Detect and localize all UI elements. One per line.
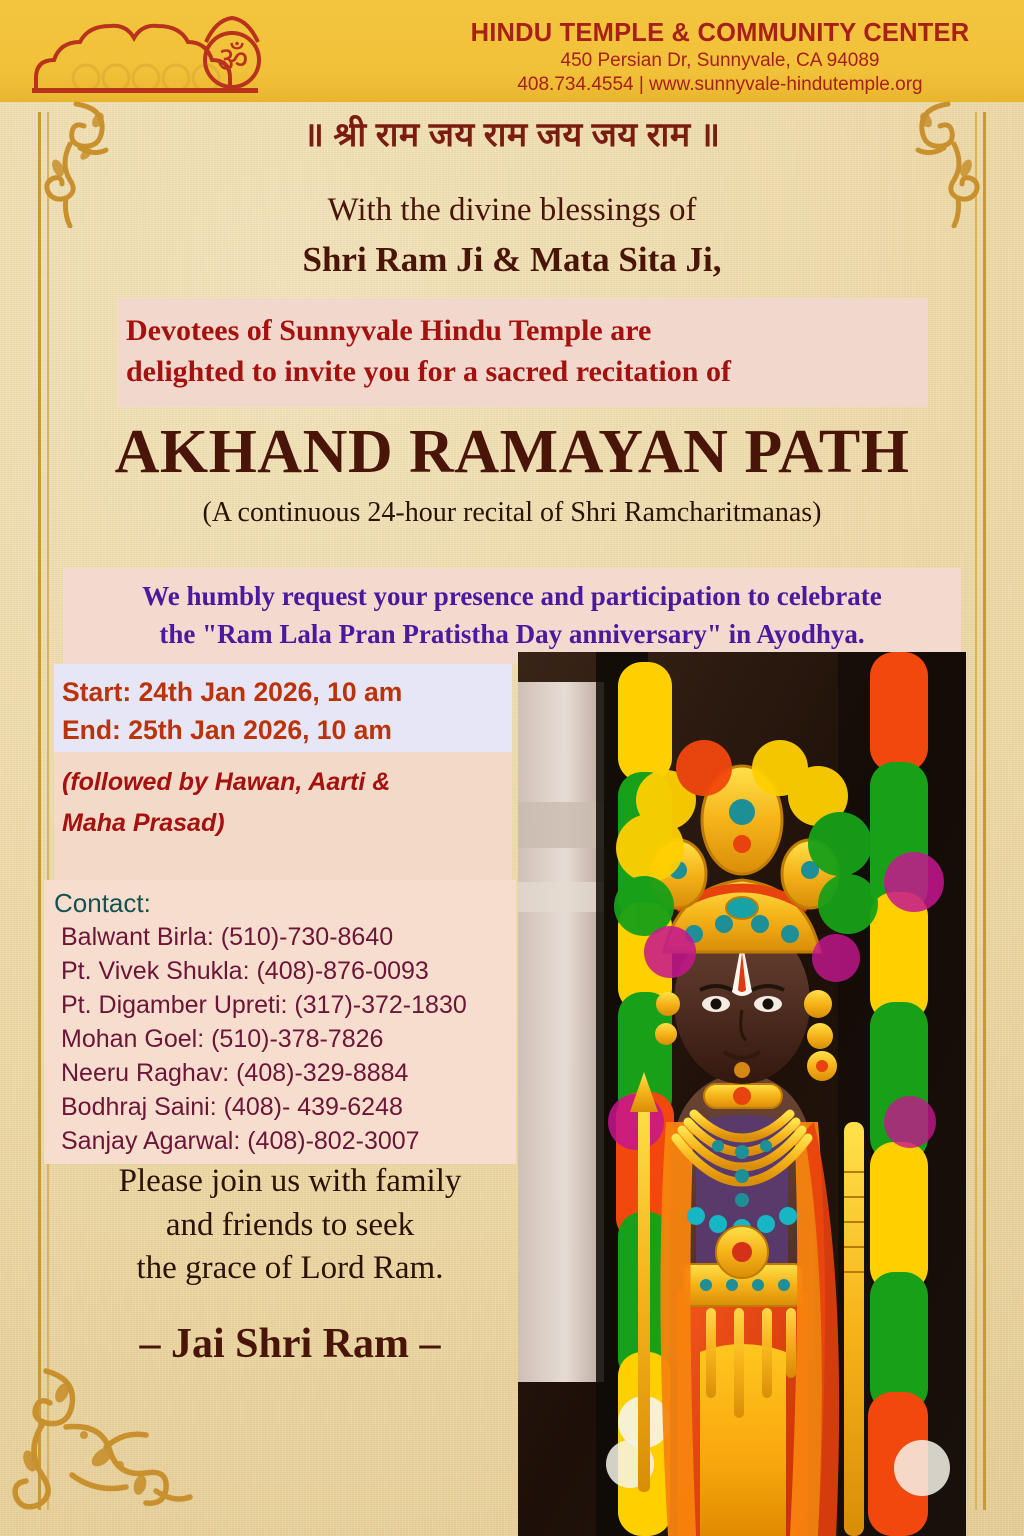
contact-person[interactable]: Balwant Birla: (510)-730-8640 xyxy=(54,921,516,955)
closing-line-3: the grace of Lord Ram. xyxy=(70,1247,510,1291)
header-text-block: HINDU TEMPLE & COMMUNITY CENTER 450 Pers… xyxy=(440,20,1000,96)
invitation-box: Devotees of Sunnyvale Hindu Temple are d… xyxy=(118,298,928,407)
header-band: ॐ HINDU TEMPLE & COMMUNITY CENTER 450 Pe… xyxy=(0,0,1024,102)
request-line-1: We humbly request your presence and part… xyxy=(63,577,961,615)
header-title: HINDU TEMPLE & COMMUNITY CENTER xyxy=(440,20,1000,47)
schedule-end: End: 25th Jan 2026, 10 am xyxy=(62,712,512,750)
event-subtitle: (A continuous 24-hour recital of Shri Ra… xyxy=(0,497,1024,529)
contact-heading: Contact: xyxy=(54,886,516,921)
invitation-line-2: delighted to invite you for a sacred rec… xyxy=(118,351,928,392)
closing-line-1: Please join us with family xyxy=(70,1160,510,1204)
contact-person[interactable]: Pt. Vivek Shukla: (408)-876-0093 xyxy=(54,955,516,989)
contact-person[interactable]: Neeru Raghav: (408)-329-8884 xyxy=(54,1057,516,1091)
contact-box: Contact: Balwant Birla: (510)-730-8640 P… xyxy=(44,880,516,1164)
temple-om-logo: ॐ xyxy=(30,8,320,100)
request-box: We humbly request your presence and part… xyxy=(63,568,961,664)
invitation-line-1: Devotees of Sunnyvale Hindu Temple are xyxy=(118,310,928,351)
schedule-box: Start: 24th Jan 2026, 10 am End: 25th Ja… xyxy=(54,664,512,762)
svg-text:ॐ: ॐ xyxy=(216,40,249,80)
corner-ornament-bottom-left-icon xyxy=(6,1365,196,1530)
schedule-start: Start: 24th Jan 2026, 10 am xyxy=(62,674,512,712)
ram-lalla-idol-photo xyxy=(518,652,966,1536)
followed-by-box: (followed by Hawan, Aarti & Maha Prasad) xyxy=(54,752,512,888)
header-address: 450 Persian Dr, Sunnyvale, CA 94089 xyxy=(440,51,1000,72)
contact-person[interactable]: Sanjay Agarwal: (408)-802-3007 xyxy=(54,1125,516,1159)
blessing-line-2: Shri Ram Ji & Mata Sita Ji, xyxy=(0,240,1024,280)
contact-person[interactable]: Pt. Digamber Upreti: (317)-372-1830 xyxy=(54,989,516,1023)
followed-by-line-2: Maha Prasad) xyxy=(62,803,512,844)
salutation: – Jai Shri Ram – xyxy=(70,1320,510,1368)
blessing-line-1: With the divine blessings of xyxy=(0,192,1024,229)
contact-person[interactable]: Mohan Goel: (510)-378-7826 xyxy=(54,1023,516,1057)
closing-message: Please join us with family and friends t… xyxy=(70,1160,510,1291)
header-contact: 408.734.4554 | www.sunnyvale-hindutemple… xyxy=(440,75,1000,96)
contact-person[interactable]: Bodhraj Saini: (408)- 439-6248 xyxy=(54,1091,516,1125)
poster-root: ॐ HINDU TEMPLE & COMMUNITY CENTER 450 Pe… xyxy=(0,0,1024,1536)
event-title: AKHAND RAMAYAN PATH xyxy=(0,417,1024,488)
sanskrit-mantra: ॥ श्री राम जय राम जय जय राम ॥ xyxy=(0,110,1024,156)
closing-line-2: and friends to seek xyxy=(70,1204,510,1248)
followed-by-line-1: (followed by Hawan, Aarti & xyxy=(62,762,512,803)
request-line-2: the "Ram Lala Pran Pratistha Day anniver… xyxy=(63,615,961,653)
